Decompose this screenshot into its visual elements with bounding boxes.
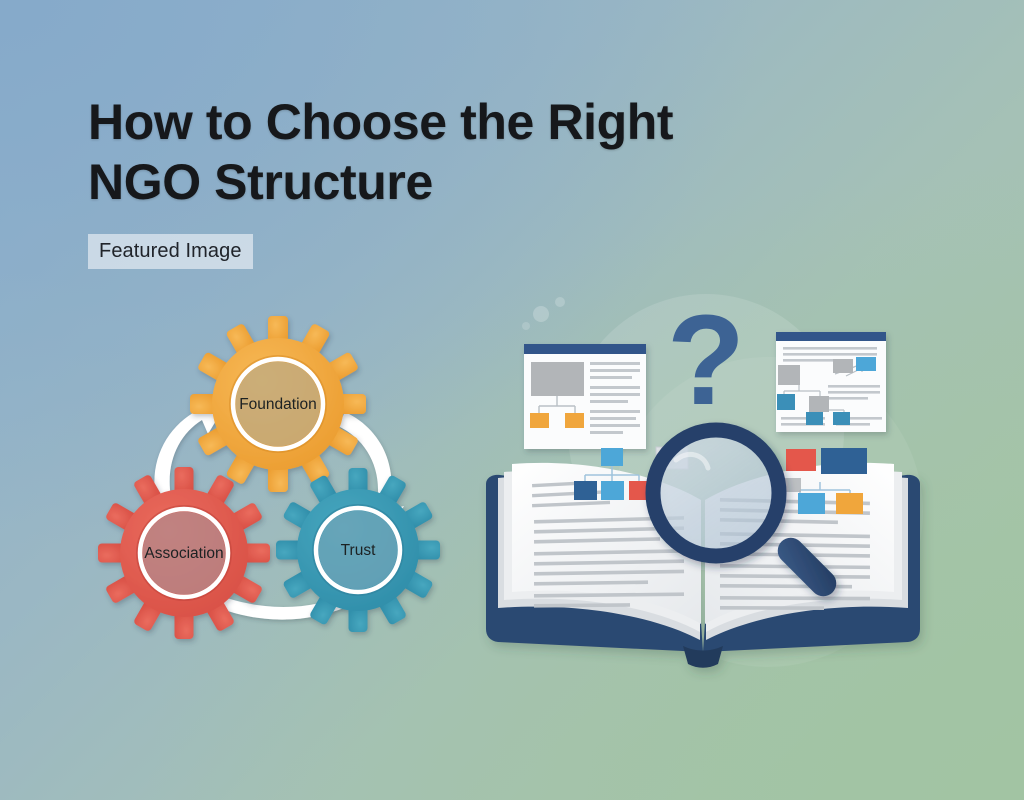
- book-right-page-chart-box: [786, 449, 816, 471]
- page-title-line-1: How to Choose the Right: [88, 92, 848, 152]
- right-document-chart-box: [856, 357, 876, 371]
- gear-trust-label: Trust: [341, 542, 376, 559]
- right-document-chart-box: [809, 396, 829, 412]
- open-book-illustration: ?: [468, 272, 938, 682]
- ngo-structure-gear-diagram: Foundation: [92, 300, 472, 650]
- right-document-chart-box: [777, 394, 795, 410]
- right-document-chart-box: [833, 359, 853, 373]
- gear-foundation-label: Foundation: [239, 396, 317, 413]
- book-right-page-chart-box: [798, 493, 825, 514]
- right-document-chart-box: [778, 365, 800, 385]
- gear-association-label: Association: [144, 545, 223, 562]
- left-document-chart-box: [530, 413, 549, 428]
- book-right-page-chart-box: [836, 493, 863, 514]
- left-document-header-bar: [524, 344, 646, 354]
- book-left-page-chart-box: [574, 481, 597, 500]
- right-document-page: [776, 332, 886, 432]
- page-title-line-2: NGO Structure: [88, 152, 848, 212]
- left-document-chart-box: [565, 413, 584, 428]
- featured-image-canvas: How to Choose the Right NGO Structure Fe…: [0, 0, 1024, 800]
- book-left-page-chart-box: [601, 448, 623, 466]
- left-document-page: [524, 344, 646, 449]
- question-mark-icon: ?: [667, 289, 745, 432]
- book-right-page-chart-box: [821, 448, 867, 474]
- featured-image-badge: Featured Image: [88, 234, 253, 269]
- right-document-header-bar: [776, 332, 886, 341]
- right-document-chart-box: [833, 412, 850, 425]
- gear-foundation[interactable]: Foundation: [190, 316, 366, 492]
- left-document-image-placeholder: [531, 362, 584, 396]
- book-left-page-chart-box: [601, 481, 624, 500]
- right-document-chart-box: [806, 412, 823, 425]
- question-mark-glyph: ?: [667, 289, 745, 432]
- page-header: How to Choose the Right NGO Structure Fe…: [88, 92, 848, 269]
